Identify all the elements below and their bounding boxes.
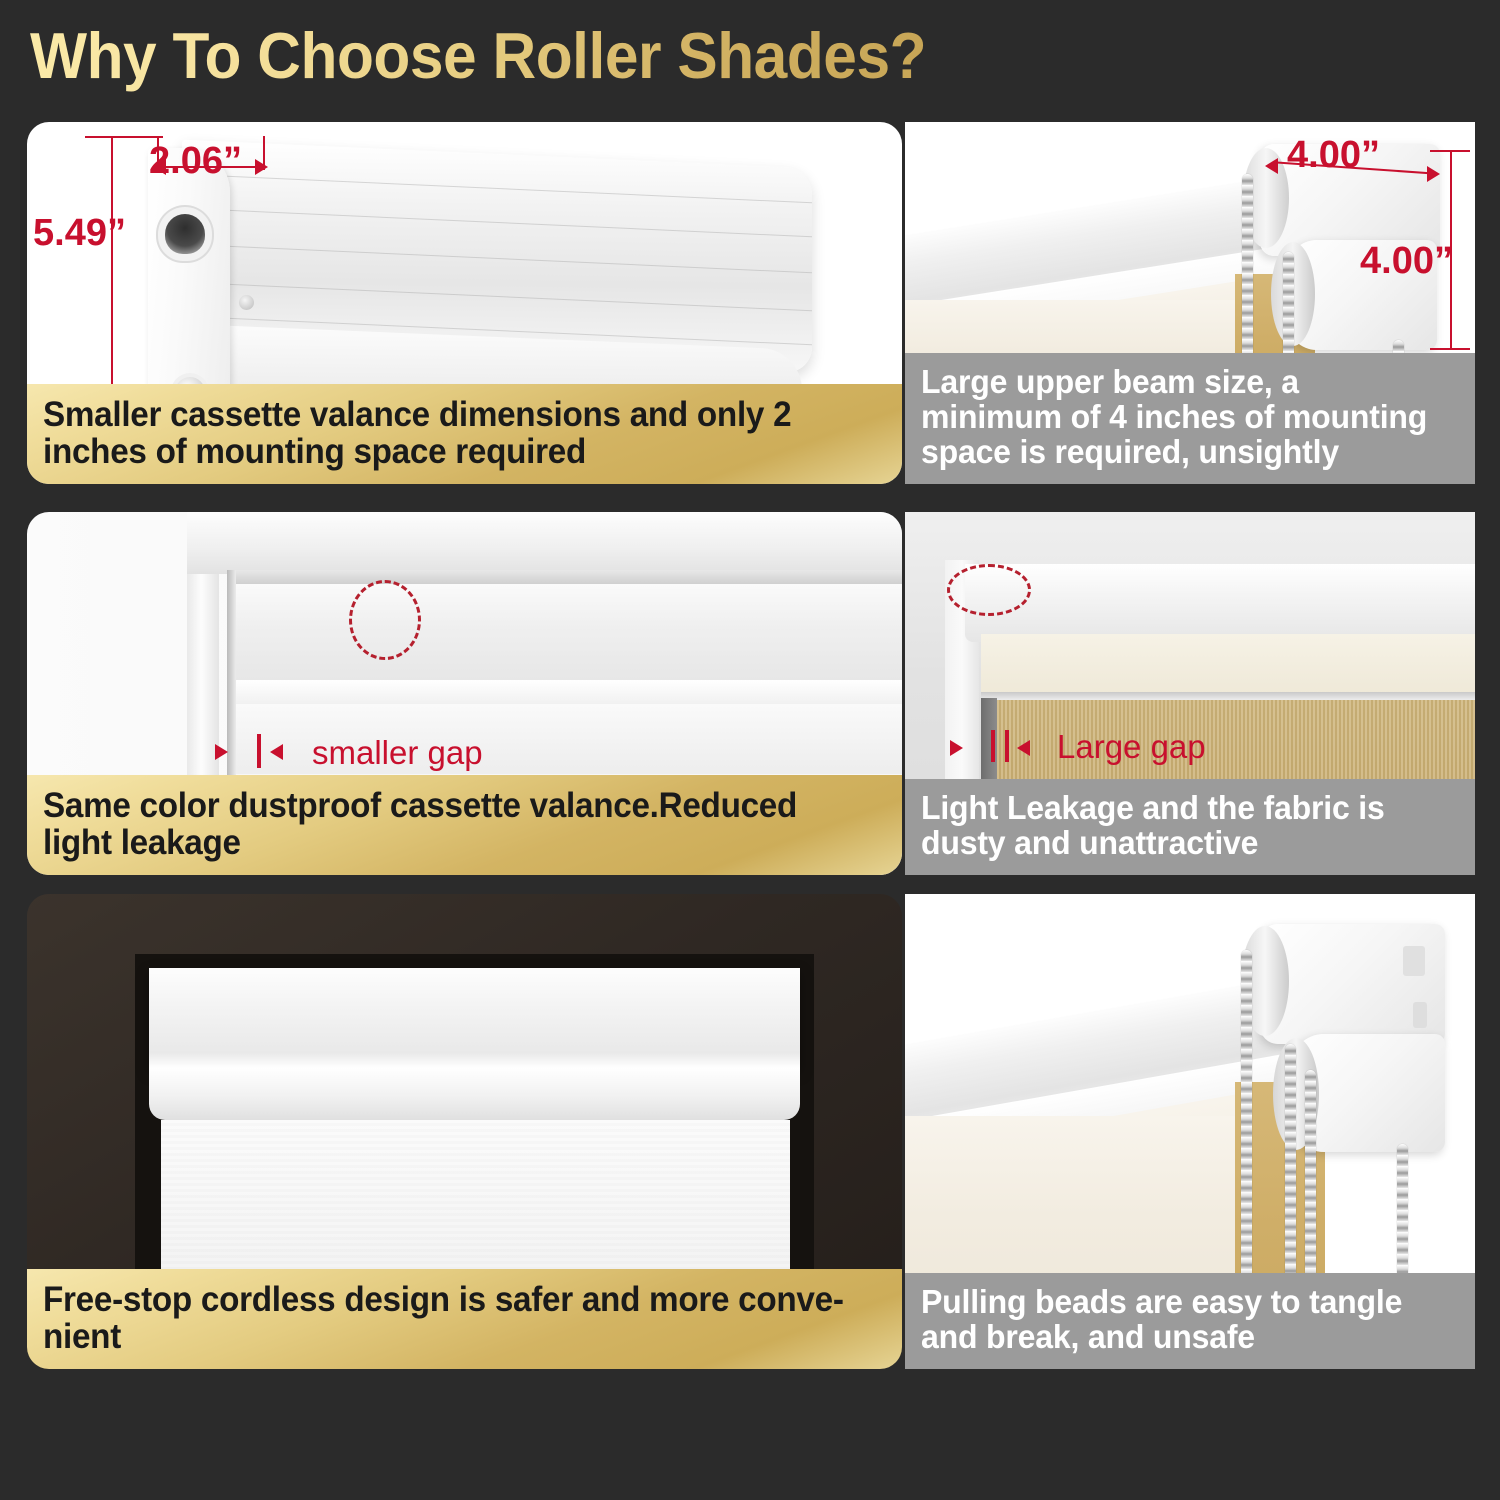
cassette-screw-small-icon <box>239 295 254 310</box>
panel-cassette-dimensions: 2.06” 5.49” Smaller cassette valance dim… <box>27 122 902 484</box>
caption-line: Pulling beads are easy to tangle <box>921 1285 1443 1320</box>
caption-line: light leakage <box>43 824 844 861</box>
panel-2-caption: Large upper beam size, a minimum of 4 in… <box>905 353 1475 484</box>
panel-large-beam: 4.00” 4.00” Large upper beam size, a min… <box>905 122 1475 484</box>
dimension-width-label: 2.06” <box>149 140 242 183</box>
bracket-notch2-icon <box>1413 1002 1427 1028</box>
panel-6-caption: Pulling beads are easy to tangle and bre… <box>905 1273 1475 1369</box>
panel-3-caption: Same color dustproof cassette valance.Re… <box>27 775 902 875</box>
caption-line: Large upper beam size, a <box>921 365 1443 400</box>
shade-panel-top <box>230 584 902 680</box>
dim-arrow-left-icon <box>1265 158 1278 174</box>
large-gap-label: Large gap <box>1057 728 1206 766</box>
panel-4-caption: Light Leakage and the fabric is dusty an… <box>905 779 1475 875</box>
panel-large-gap: Large gap Light Leakage and the fabric i… <box>905 512 1475 875</box>
panel-5-caption: Free-stop cordless design is safer and m… <box>27 1269 902 1369</box>
caption-line: inches of mounting space required <box>43 433 844 470</box>
caption-line: Same color dustproof cassette valance.Re… <box>43 787 844 824</box>
caption-line: nient <box>43 1318 844 1355</box>
roller-shadow-line <box>981 692 1475 700</box>
dimension-width-label: 4.00” <box>1287 134 1380 177</box>
caption-line: Smaller cassette valance dimensions and … <box>43 396 844 433</box>
dim-arrow-right-icon <box>255 159 268 175</box>
bracket-notch-icon <box>1403 946 1425 976</box>
dimension-height-label: 5.49” <box>33 212 126 255</box>
window-head <box>187 512 902 574</box>
gap-arrow-left-icon <box>950 740 963 756</box>
caption-line: Free-stop cordless design is safer and m… <box>43 1281 844 1318</box>
caption-line: Light Leakage and the fabric is <box>921 791 1443 826</box>
dimension-height-label: 4.00” <box>1360 240 1453 283</box>
cassette-slot-icon <box>165 214 205 254</box>
caption-line: space is required, unsightly <box>921 435 1443 470</box>
page-title: Why To Choose Roller Shades? <box>30 17 988 95</box>
roller-tube <box>965 564 1475 642</box>
dim-arrow-right-icon <box>1427 166 1440 182</box>
smaller-gap-label: smaller gap <box>312 734 483 772</box>
shade-panel-mid <box>230 680 902 704</box>
shade-cassette-head <box>149 968 800 1068</box>
caption-line: minimum of 4 inches of mounting <box>921 400 1443 435</box>
gap-arrow-left-icon <box>215 744 228 760</box>
panel-1-caption: Smaller cassette valance dimensions and … <box>27 384 902 484</box>
shade-cassette-lip <box>149 1068 800 1120</box>
gap-highlight-circle <box>947 564 1031 616</box>
gap-highlight-circle <box>349 580 421 660</box>
panel-cordless-design: Free-stop cordless design is safer and m… <box>27 894 902 1369</box>
roller-cream-band <box>981 634 1475 694</box>
panel-smaller-gap: smaller gap Same color dustproof cassett… <box>27 512 902 875</box>
cassette-valance-strip <box>230 570 902 584</box>
gap-arrow-right-icon <box>1017 740 1030 756</box>
panel-bead-chain: Pulling beads are easy to tangle and bre… <box>905 894 1475 1369</box>
caption-line: and break, and unsafe <box>921 1320 1443 1355</box>
caption-line: dusty and unattractive <box>921 826 1443 861</box>
gap-arrow-right-icon <box>270 744 283 760</box>
